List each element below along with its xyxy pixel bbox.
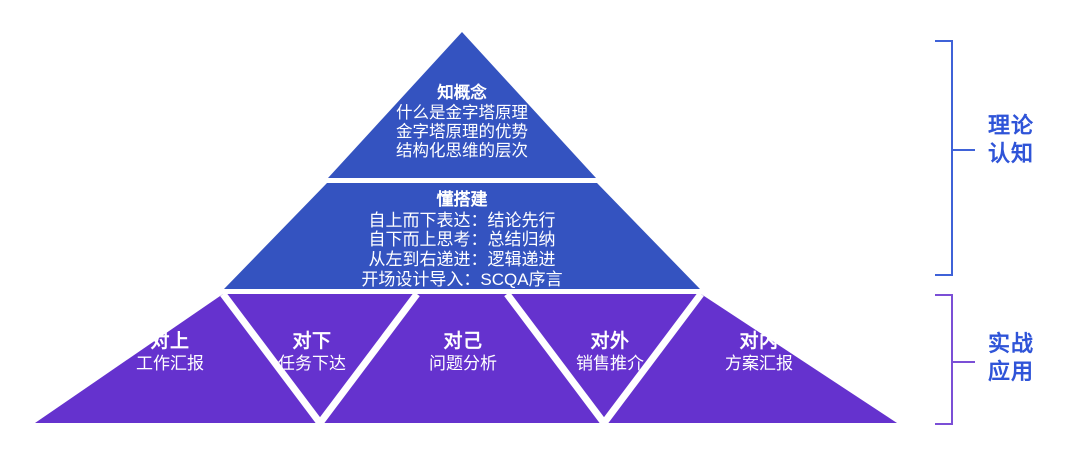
tier-2-shape [224,183,700,289]
pyramid-shapes [0,0,1072,466]
bracket-practice-shape [935,295,975,424]
bracket-theory-shape [935,41,975,275]
tier-3-shape [35,294,897,423]
tier-1-shape [328,32,596,178]
pyramid-diagram: 知概念 什么是金字塔原理 金字塔原理的优势 结构化思维的层次 懂搭建 自上而下表… [0,0,1072,466]
